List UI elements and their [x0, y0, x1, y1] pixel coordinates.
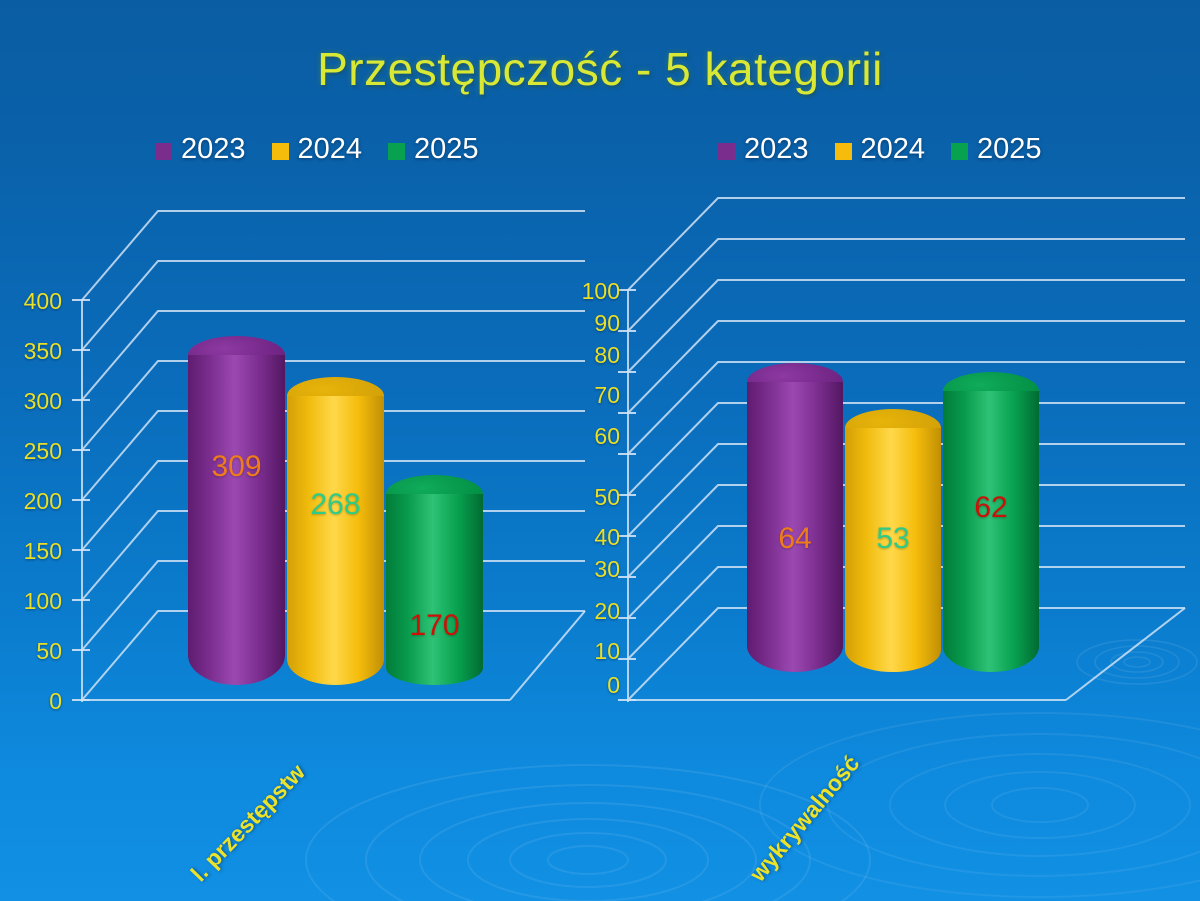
y-axis-tick-left-250: 250: [0, 438, 62, 465]
y-axis-tick-left-100: 100: [0, 588, 62, 615]
y-axis-tick-left-0: 0: [0, 688, 62, 715]
y-axis-tick-right-0: 0: [558, 672, 620, 699]
y-axis-tick-right-60: 60: [558, 423, 620, 450]
y-axis-tick-left-150: 150: [0, 538, 62, 565]
bar-body-2025: [943, 391, 1039, 672]
bar-2024-wykrywalnosc[interactable]: 53: [845, 428, 941, 672]
bar-body-2024: [287, 396, 384, 685]
bar-2025-przestepstwa[interactable]: 170: [386, 494, 483, 685]
bar-2024-przestepstwa[interactable]: 268: [287, 396, 384, 685]
y-axis-tick-right-80: 80: [558, 342, 620, 369]
y-axis-tick-right-100: 100: [558, 278, 620, 305]
y-axis-tick-right-30: 30: [558, 556, 620, 583]
bar-value-2025: 62: [943, 491, 1039, 525]
y-axis-tick-right-20: 20: [558, 598, 620, 625]
bar-2025-wykrywalnosc[interactable]: 62: [943, 391, 1039, 672]
bar-2023-wykrywalnosc[interactable]: 64: [747, 382, 843, 672]
bar-body-2023: [188, 355, 285, 685]
bar-value-2025: 170: [386, 609, 483, 643]
y-axis-tick-left-50: 50: [0, 638, 62, 665]
y-axis-tick-right-70: 70: [558, 382, 620, 409]
bar-value-2024: 268: [287, 488, 384, 522]
bar-body-2025: [386, 494, 483, 685]
bar-value-2023: 309: [188, 450, 285, 484]
bar-2023-przestepstwa[interactable]: 309: [188, 355, 285, 685]
bar-value-2024: 53: [845, 522, 941, 556]
bar-value-2023: 64: [747, 522, 843, 556]
chart-left-przestepstwa: 2023 2024 2025: [0, 0, 600, 901]
y-axis-tick-left-400: 400: [0, 288, 62, 315]
y-axis-tick-left-200: 200: [0, 488, 62, 515]
y-axis-tick-left-350: 350: [0, 338, 62, 365]
y-axis-tick-right-10: 10: [558, 638, 620, 665]
y-axis-tick-right-90: 90: [558, 310, 620, 337]
chart-right-wykrywalnosc: 2023 2024 2025: [600, 0, 1200, 901]
y-axis-tick-right-40: 40: [558, 524, 620, 551]
slide-canvas: Przestępczość - 5 kategorii 2023 2024 20…: [0, 0, 1200, 901]
y-axis-tick-left-300: 300: [0, 388, 62, 415]
y-axis-tick-right-50: 50: [558, 484, 620, 511]
